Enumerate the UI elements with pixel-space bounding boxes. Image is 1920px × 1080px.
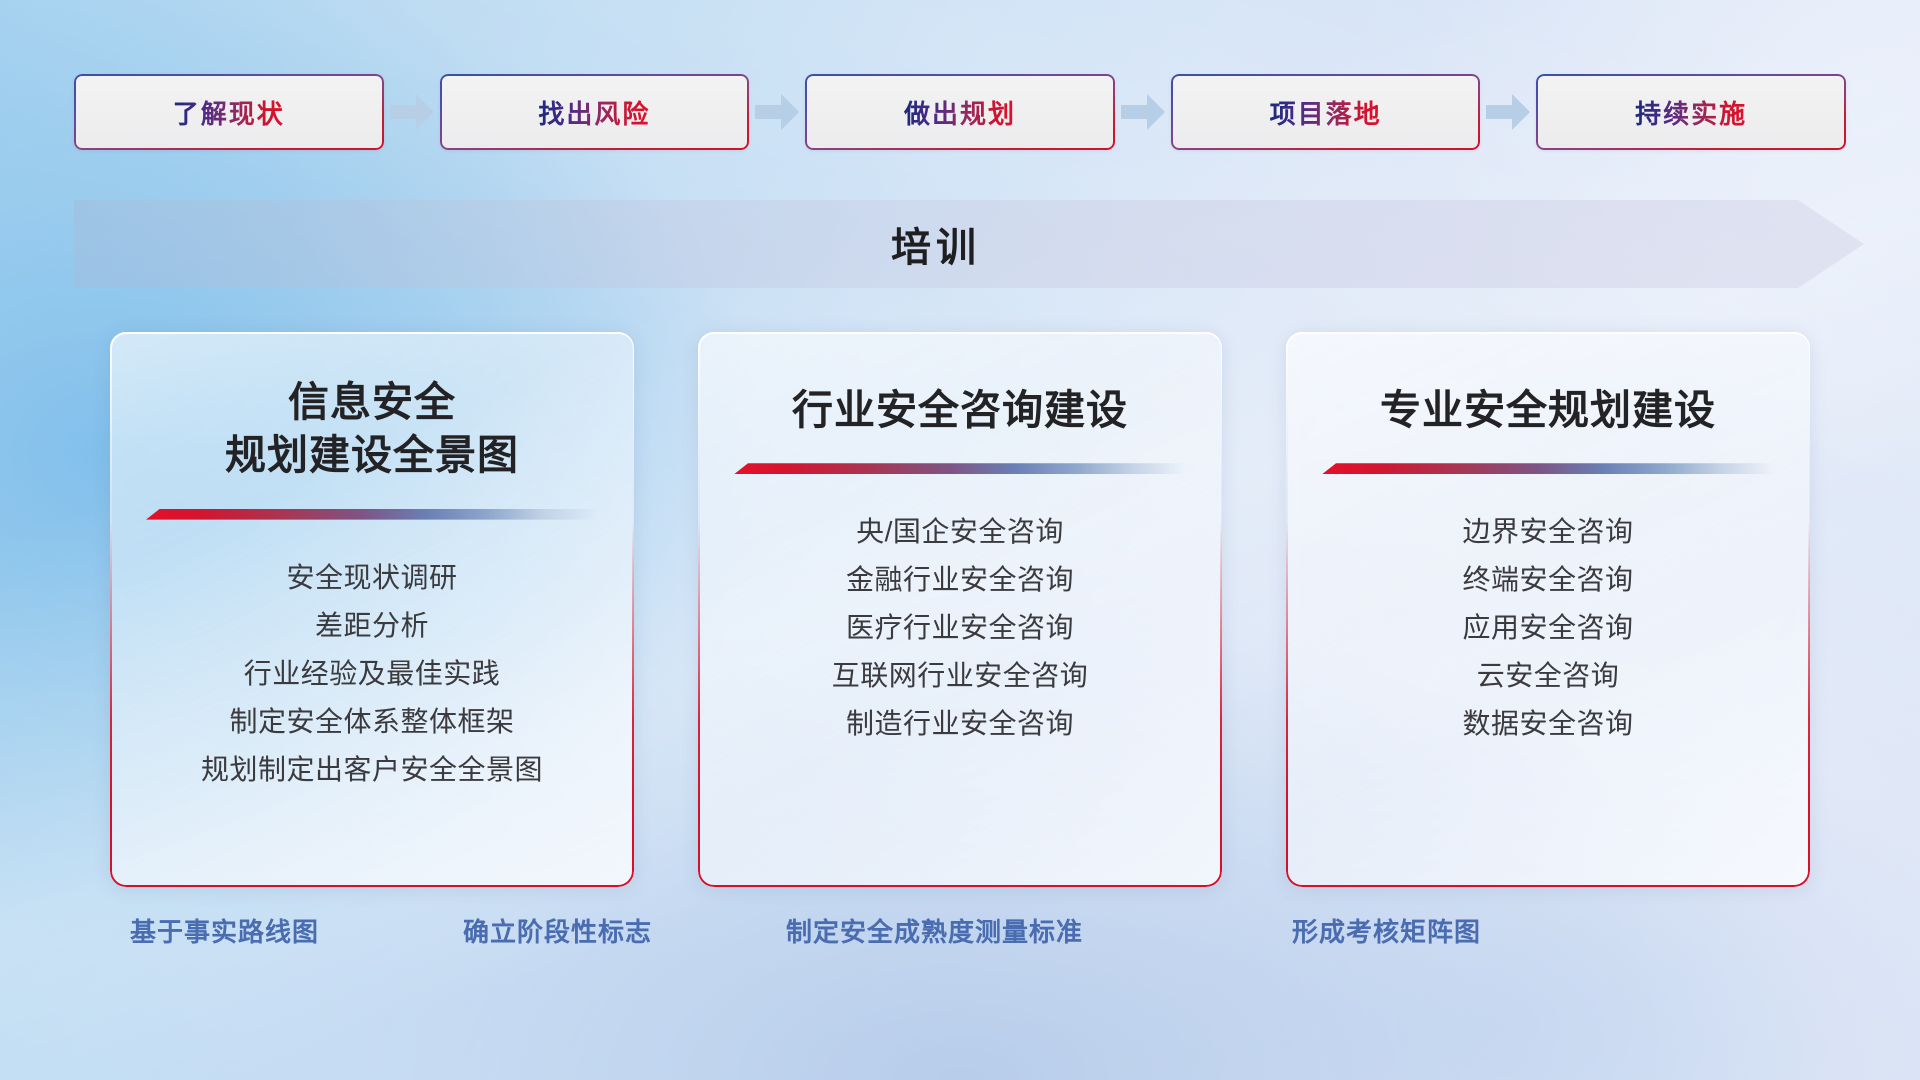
card-divider <box>146 509 598 520</box>
card-information-security-panorama[interactable]: 信息安全 规划建设全景图 安全现状调研 差距分析 行业经验及最佳实践 制定安全体… <box>110 332 634 887</box>
card-item-list: 边界安全咨询 终端安全咨询 应用安全咨询 云安全咨询 数据安全咨询 <box>1286 508 1810 748</box>
list-item: 央/国企安全咨询 <box>698 508 1222 556</box>
list-item: 医疗行业安全咨询 <box>698 604 1222 652</box>
stage-box-5[interactable]: 持续实施 <box>1536 74 1846 150</box>
card-professional-security-planning[interactable]: 专业安全规划建设 边界安全咨询 终端安全咨询 应用安全咨询 云安全咨询 数据安全… <box>1286 332 1810 887</box>
list-item: 差距分析 <box>110 602 634 650</box>
list-item: 规划制定出客户安全全景图 <box>110 746 634 794</box>
stage-label: 找出风险 <box>538 94 650 131</box>
training-banner: 培训 <box>74 200 1864 288</box>
card-item-list: 央/国企安全咨询 金融行业安全咨询 医疗行业安全咨询 互联网行业安全咨询 制造行… <box>698 508 1222 748</box>
stage-box-3[interactable]: 做出规划 <box>805 74 1115 150</box>
card-item-list: 安全现状调研 差距分析 行业经验及最佳实践 制定安全体系整体框架 规划制定出客户… <box>110 554 634 794</box>
stage-label: 项目落地 <box>1270 94 1382 131</box>
stage-process-row: 了解现状 找出风险 做出规划 项目落地 持续实施 <box>74 74 1846 150</box>
stage-label: 做出规划 <box>904 94 1016 131</box>
footer-label-roadmap: 基于事实路线图 <box>130 912 319 949</box>
list-item: 终端安全咨询 <box>1286 556 1810 604</box>
right-arrow-icon <box>1480 74 1536 150</box>
card-divider <box>734 463 1186 474</box>
footer-label-maturity: 制定安全成熟度测量标准 <box>786 912 1083 949</box>
list-item: 边界安全咨询 <box>1286 508 1810 556</box>
stage-box-1[interactable]: 了解现状 <box>74 74 384 150</box>
list-item: 金融行业安全咨询 <box>698 556 1222 604</box>
list-item: 应用安全咨询 <box>1286 604 1810 652</box>
training-banner-label: 培训 <box>74 200 1798 288</box>
stage-label: 持续实施 <box>1635 94 1747 131</box>
card-divider <box>1322 463 1774 474</box>
right-arrow-icon <box>749 74 805 150</box>
card-title: 行业安全咨询建设 <box>766 384 1154 437</box>
list-item: 数据安全咨询 <box>1286 700 1810 748</box>
card-title: 专业安全规划建设 <box>1354 384 1742 437</box>
card-group: 信息安全 规划建设全景图 安全现状调研 差距分析 行业经验及最佳实践 制定安全体… <box>110 332 1810 887</box>
stage-label: 了解现状 <box>173 94 285 131</box>
footer-label-matrix: 形成考核矩阵图 <box>1292 912 1481 949</box>
list-item: 安全现状调研 <box>110 554 634 602</box>
list-item: 制定安全体系整体框架 <box>110 698 634 746</box>
stage-box-2[interactable]: 找出风险 <box>440 74 750 150</box>
list-item: 行业经验及最佳实践 <box>110 650 634 698</box>
list-item: 互联网行业安全咨询 <box>698 652 1222 700</box>
footer-label-row: 基于事实路线图 确立阶段性标志 制定安全成熟度测量标准 形成考核矩阵图 <box>0 912 1920 960</box>
card-title: 信息安全 规划建设全景图 <box>199 376 545 483</box>
right-arrow-icon <box>1115 74 1171 150</box>
list-item: 云安全咨询 <box>1286 652 1810 700</box>
list-item: 制造行业安全咨询 <box>698 700 1222 748</box>
stage-box-4[interactable]: 项目落地 <box>1171 74 1481 150</box>
card-industry-security-consulting[interactable]: 行业安全咨询建设 央/国企安全咨询 金融行业安全咨询 医疗行业安全咨询 互联网行… <box>698 332 1222 887</box>
right-arrow-icon <box>384 74 440 150</box>
footer-label-milestone: 确立阶段性标志 <box>463 912 652 949</box>
